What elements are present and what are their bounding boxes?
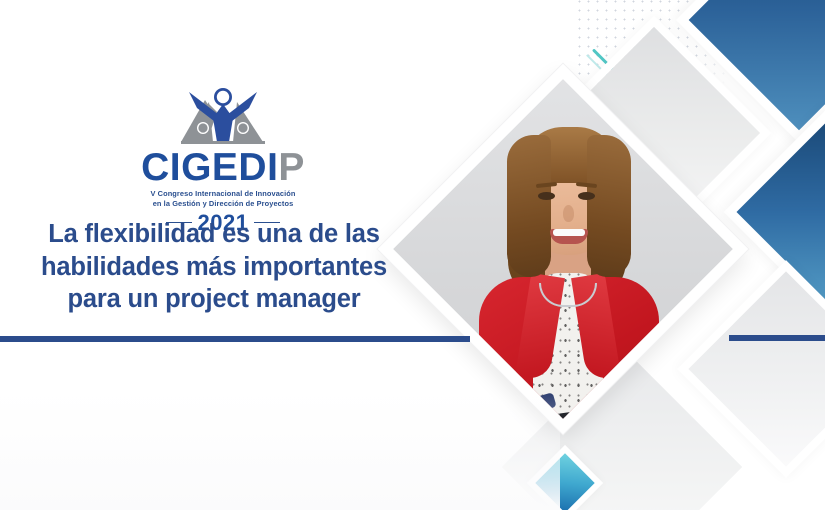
cigedip-subtitle: V Congreso Internacional de Innovación e… xyxy=(120,189,326,209)
headline: La flexibilidad es una de las habilidade… xyxy=(14,218,414,316)
cigedip-wordmark: CIGEDIP xyxy=(120,148,326,187)
headline-line-1: La flexibilidad es una de las xyxy=(14,218,414,251)
portrait-eye-left xyxy=(538,192,555,200)
headline-line-2: habilidades más importantes xyxy=(14,251,414,284)
headline-line-3: para un project manager xyxy=(14,283,414,316)
portrait-hair-left xyxy=(507,135,551,277)
cigedip-logo: CIGEDIP V Congreso Internacional de Inno… xyxy=(120,78,326,234)
portrait-eye-right xyxy=(578,192,595,200)
portrait-mouth xyxy=(550,229,588,244)
cigedip-subtitle-line2: en la Gestión y Dirección de Proyectos xyxy=(120,199,326,209)
cigedip-people-triangle-icon xyxy=(179,78,267,148)
portrait-hair-right xyxy=(587,135,631,277)
portrait-teeth xyxy=(553,229,585,236)
portrait-nose xyxy=(563,205,574,222)
cigedip-wordmark-main: CIGEDI xyxy=(141,146,278,189)
cigedip-subtitle-line1: V Congreso Internacional de Innovación xyxy=(120,189,326,199)
banner-canvas: CIGEDIP V Congreso Internacional de Inno… xyxy=(0,0,825,510)
cigedip-wordmark-tail: P xyxy=(278,146,305,189)
bottom-fade xyxy=(0,390,560,510)
navy-rule-right xyxy=(729,335,825,341)
navy-rule-left xyxy=(0,336,470,342)
